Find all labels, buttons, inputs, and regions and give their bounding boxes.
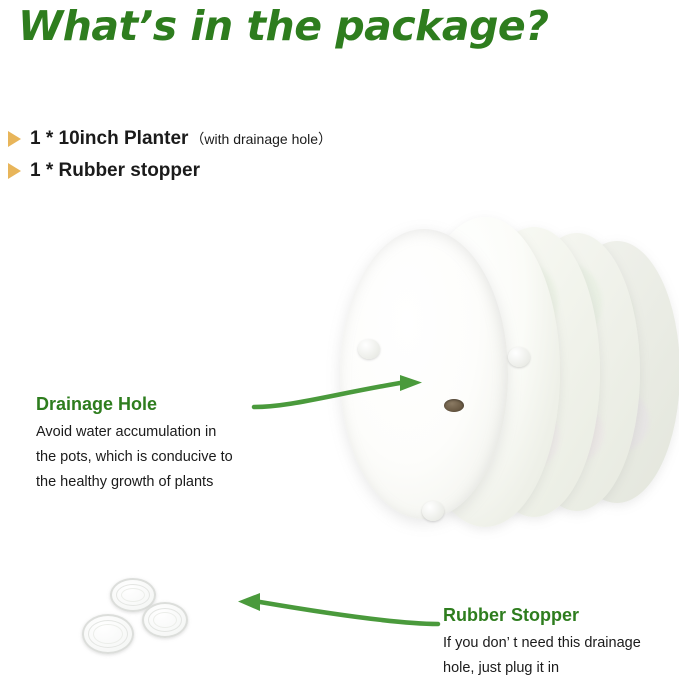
callout-heading: Rubber Stopper <box>443 605 679 626</box>
drainage-hole <box>444 399 464 412</box>
callout-body-line: the healthy growth of plants <box>36 470 286 495</box>
callout-body-line: Avoid water accumulation in <box>36 420 286 445</box>
callout-body-line: the pots, which is conducive to <box>36 445 286 470</box>
package-contents-infographic: What’s in the package? 1 * 10inch Plante… <box>0 0 679 679</box>
list-item-note: （with drainage hole） <box>190 129 332 149</box>
stopper-inner-ring <box>93 624 123 644</box>
callout-heading: Drainage Hole <box>36 394 286 415</box>
list-item-label: 1 * Rubber stopper <box>30 160 200 182</box>
curved-arrow-icon <box>222 580 442 635</box>
planter-foot <box>358 339 380 359</box>
rubber-stoppers-image <box>72 578 202 658</box>
planter-foot <box>508 347 530 367</box>
callout-body-line: hole, just plug it in <box>443 656 679 681</box>
triangle-bullet-icon <box>8 163 21 179</box>
planter-bottom-face <box>340 229 508 519</box>
planter-foot <box>422 501 444 521</box>
callout-drainage-hole: Drainage Hole Avoid water accumulation i… <box>36 394 286 495</box>
package-contents-list: 1 * 10inch Planter （with drainage hole） … <box>8 128 332 192</box>
triangle-bullet-icon <box>8 131 21 147</box>
callout-body: Avoid water accumulation in the pots, wh… <box>36 420 286 495</box>
rubber-stopper <box>142 602 188 638</box>
callout-body: If you don’ t need this drainage hole, j… <box>443 631 679 681</box>
callout-rubber-stopper: Rubber Stopper If you don’ t need this d… <box>443 605 679 681</box>
rubber-stopper <box>82 614 134 654</box>
page-title: What’s in the package? <box>18 2 549 50</box>
list-item-label: 1 * 10inch Planter <box>30 128 188 150</box>
list-item: 1 * 10inch Planter （with drainage hole） <box>8 128 332 160</box>
planter-image <box>318 205 679 540</box>
callout-body-line: If you don’ t need this drainage <box>443 631 679 656</box>
stopper-inner-ring <box>121 588 145 602</box>
stopper-inner-ring <box>153 612 177 628</box>
list-item: 1 * Rubber stopper <box>8 160 332 192</box>
